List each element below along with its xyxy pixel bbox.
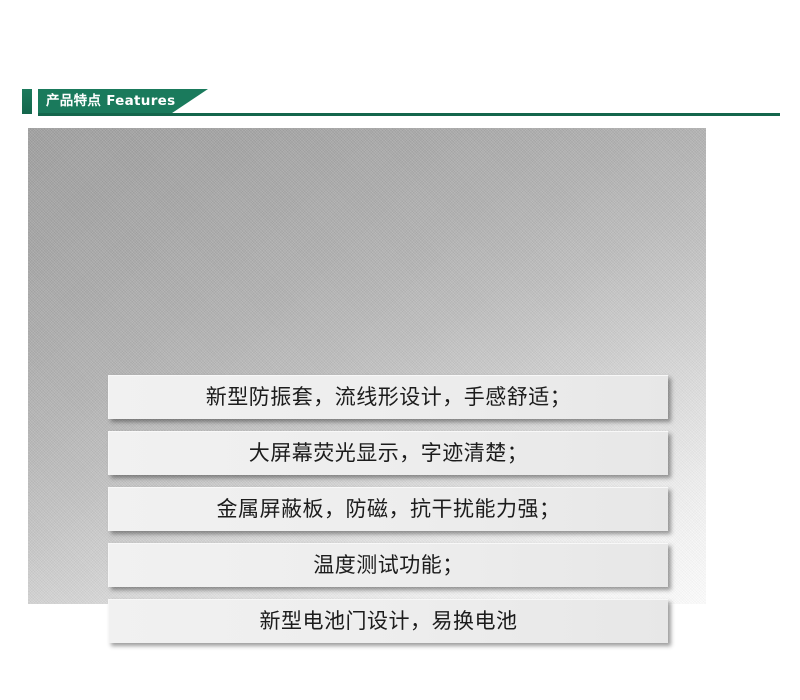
feature-text: 金属屏蔽板，防磁，抗干扰能力强； bbox=[217, 499, 561, 520]
list-item: 新型电池门设计，易换电池 bbox=[108, 599, 668, 643]
header-divider-rule bbox=[38, 113, 780, 116]
features-panel: 新型防振套，流线形设计，手感舒适； 大屏幕荧光显示，字迹清楚； 金属屏蔽板，防磁… bbox=[28, 128, 706, 604]
list-item: 大屏幕荧光显示，字迹清楚； bbox=[108, 431, 668, 475]
feature-text: 新型防振套，流线形设计，手感舒适； bbox=[206, 387, 572, 408]
list-item: 新型防振套，流线形设计，手感舒适； bbox=[108, 375, 668, 419]
feature-text: 新型电池门设计，易换电池 bbox=[260, 611, 518, 632]
feature-text: 大屏幕荧光显示，字迹清楚； bbox=[249, 443, 529, 464]
section-title: 产品特点 Features bbox=[46, 89, 175, 114]
list-item: 金属屏蔽板，防磁，抗干扰能力强； bbox=[108, 487, 668, 531]
header-accent-square bbox=[22, 89, 32, 114]
list-item: 温度测试功能； bbox=[108, 543, 668, 587]
page-header: 产品特点 Features bbox=[0, 0, 800, 128]
feature-list: 新型防振套，流线形设计，手感舒适； 大屏幕荧光显示，字迹清楚； 金属屏蔽板，防磁… bbox=[108, 375, 668, 643]
feature-text: 温度测试功能； bbox=[313, 555, 464, 576]
